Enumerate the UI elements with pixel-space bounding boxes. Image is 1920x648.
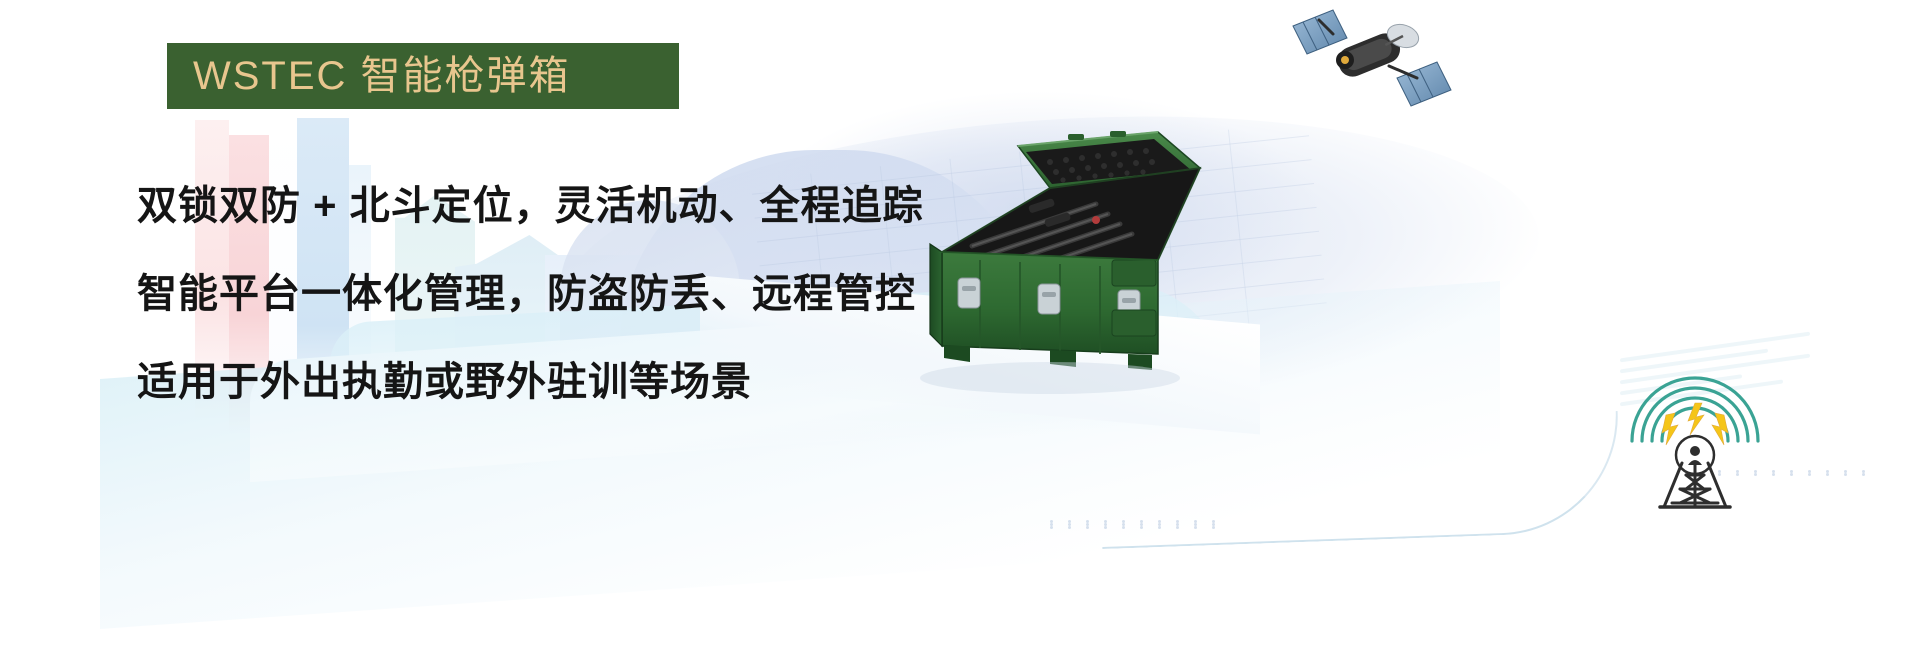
title-chip: WSTEC 智能枪弹箱 [167,43,679,109]
background-dot-matrix [1050,520,1230,529]
feature-list: 双锁双防 + 北斗定位，灵活机动、全程追踪 智能平台一体化管理，防盗防丢、远程管… [137,186,957,402]
feature-line-3: 适用于外出执勤或野外驻训等场景 [137,362,957,402]
feature-line-1: 双锁双防 + 北斗定位，灵活机动、全程追踪 [137,186,957,226]
background-curve [1098,411,1622,549]
case-body [930,244,1158,370]
promo-banner: WSTEC 智能枪弹箱 双锁双防 + 北斗定位，灵活机动、全程追踪 智能平台一体… [0,0,1920,648]
feature-line-2: 智能平台一体化管理，防盗防丢、远程管控 [137,274,957,314]
satellite-icon [1285,8,1465,128]
smart-ammunition-case-image [900,110,1260,420]
page-title: WSTEC 智能枪弹箱 [193,56,571,96]
signal-tower-icon [1620,355,1770,510]
